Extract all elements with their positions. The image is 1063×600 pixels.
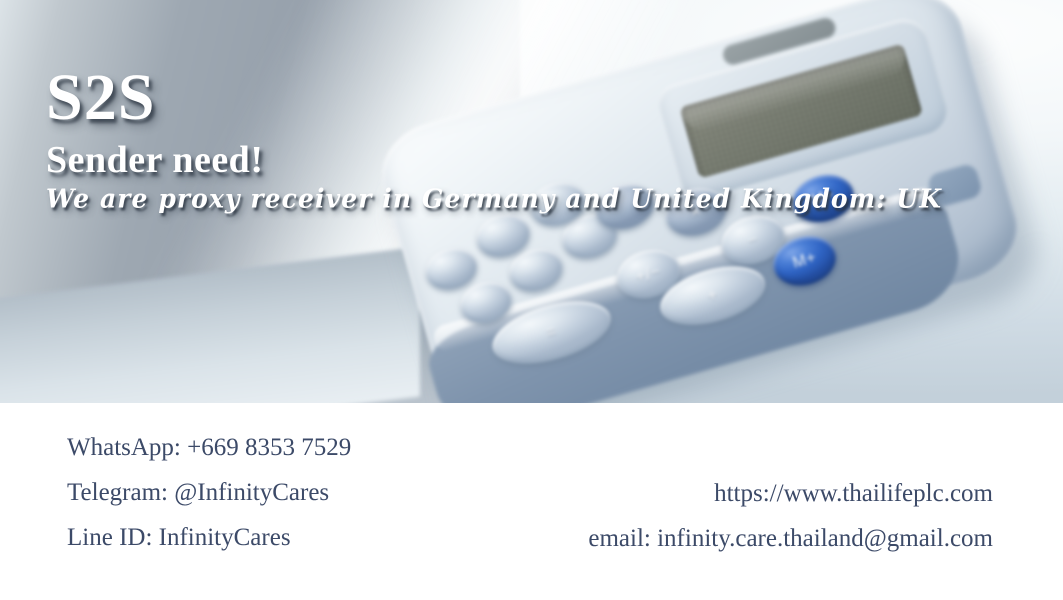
contact-email[interactable]: email: infinity.care.thailand@gmail.com (508, 516, 993, 561)
contact-column-right: https://www.thailifeplc.com email: infin… (508, 471, 993, 561)
contact-line-id[interactable]: Line ID: InfinityCares (67, 515, 351, 560)
headline-block: S2S Sender need! We are proxy receiver i… (46, 66, 1036, 213)
promo-banner: × − +/− = + M+ M− S2S Sender need! We ar… (0, 0, 1063, 600)
contact-telegram[interactable]: Telegram: @InfinityCares (67, 470, 351, 515)
contact-whatsapp[interactable]: WhatsApp: +669 8353 7529 (67, 425, 351, 470)
contact-footer: WhatsApp: +669 8353 7529 Telegram: @Infi… (0, 403, 1063, 600)
tagline: We are proxy receiver in Germany and Uni… (46, 185, 1036, 214)
contact-website[interactable]: https://www.thailifeplc.com (508, 471, 993, 516)
subheadline: Sender need! (46, 141, 1036, 181)
hero-photo: × − +/− = + M+ M− S2S Sender need! We ar… (0, 0, 1063, 403)
contact-column-left: WhatsApp: +669 8353 7529 Telegram: @Infi… (67, 425, 351, 560)
page-title: S2S (46, 66, 1036, 129)
